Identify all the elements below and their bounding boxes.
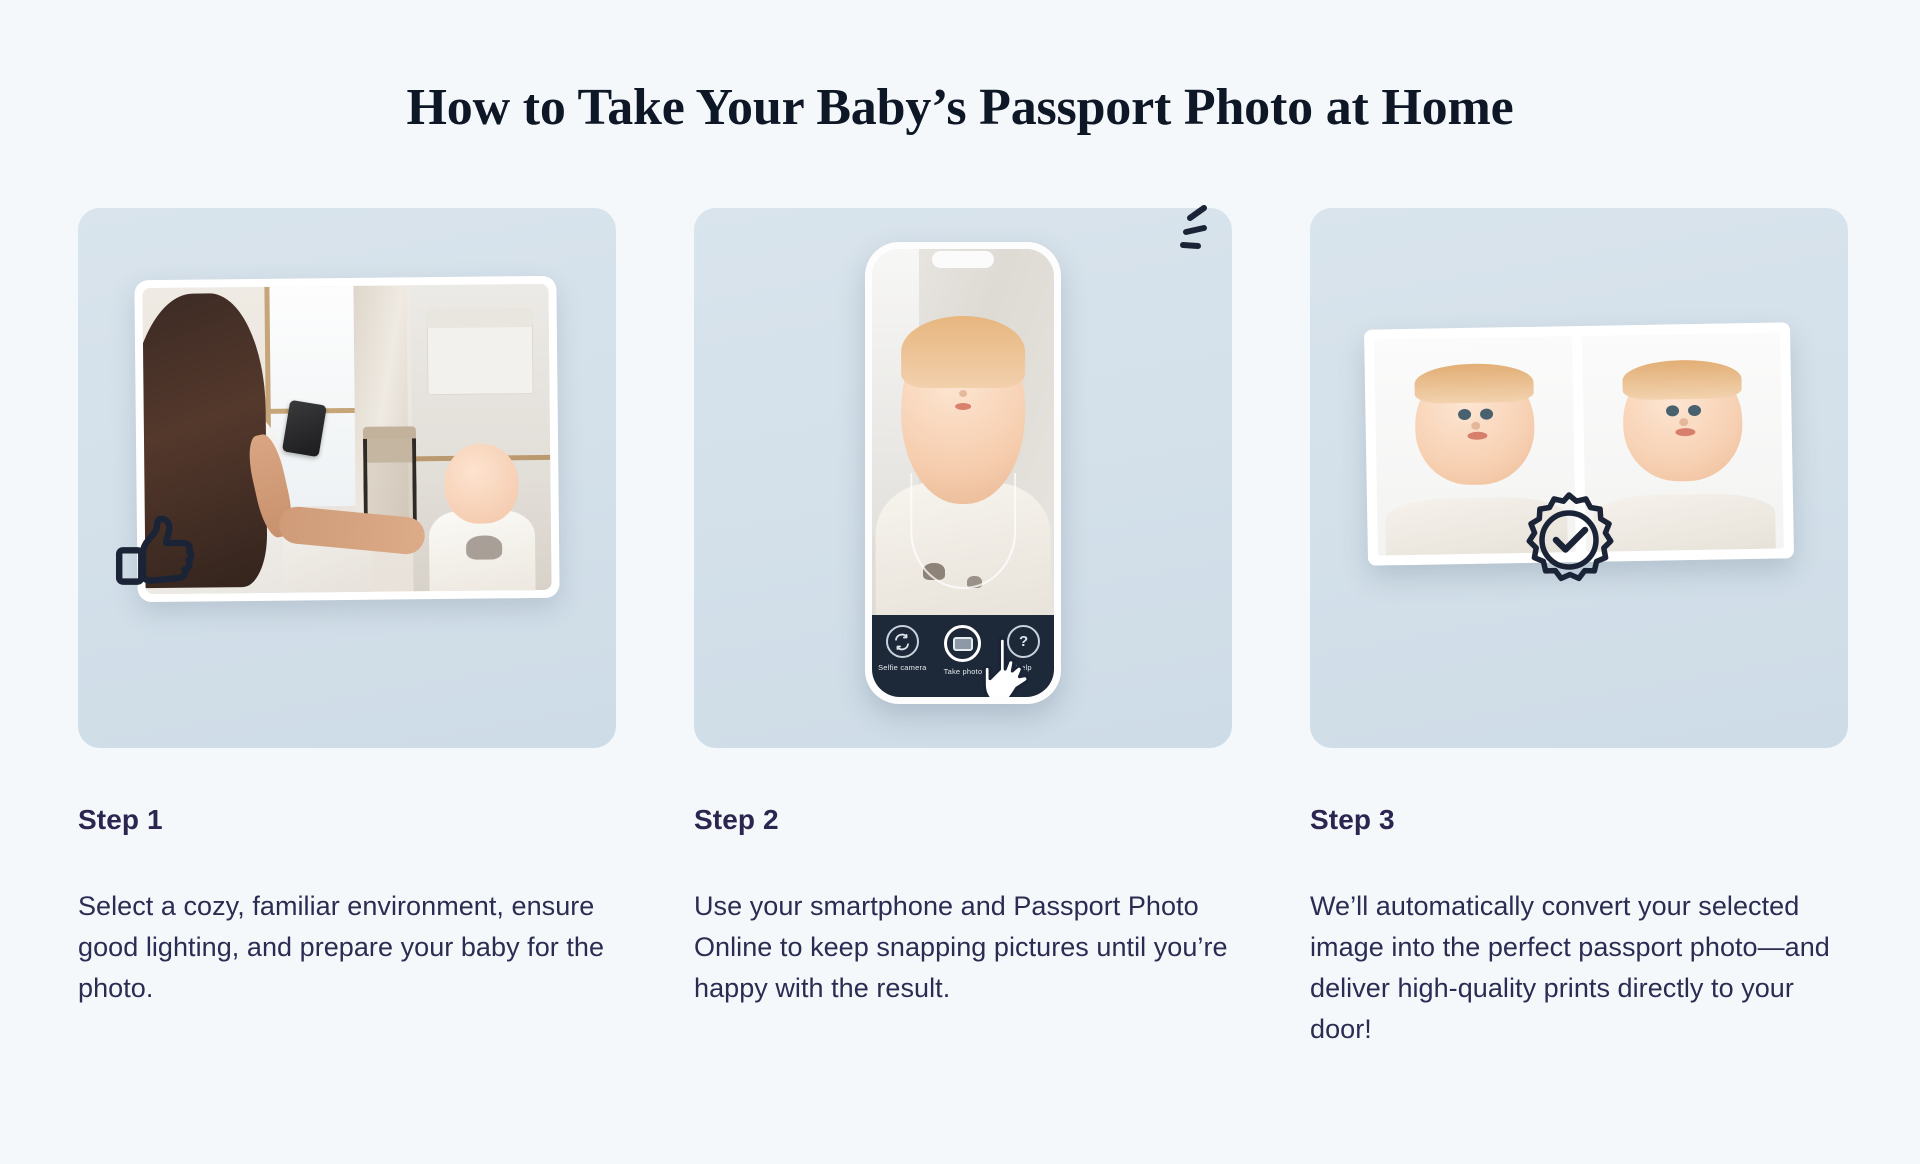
step-1-body: Select a cozy, familiar environment, ens… xyxy=(78,886,616,1009)
page-root: How to Take Your Baby’s Passport Photo a… xyxy=(0,0,1920,1164)
phone-screen: Selfie camera Take photo ? Help xyxy=(872,249,1054,697)
smartphone-mockup: Selfie camera Take photo ? Help xyxy=(865,242,1061,704)
step-column-1: Step 1 Select a cozy, familiar environme… xyxy=(78,208,616,1050)
baby-nose xyxy=(959,390,967,397)
shutter-icon[interactable] xyxy=(944,625,981,662)
baby-head xyxy=(445,443,519,523)
step-column-2: Selfie camera Take photo ? Help xyxy=(694,208,1232,1050)
phone-notch xyxy=(932,251,994,268)
thumbs-up-icon xyxy=(110,508,202,600)
print-right-hair xyxy=(1622,359,1741,400)
steps-container: Step 1 Select a cozy, familiar environme… xyxy=(78,208,1848,1050)
page-title: How to Take Your Baby’s Passport Photo a… xyxy=(0,78,1920,137)
step-3-illustration-card xyxy=(1310,208,1848,748)
shutter-inner xyxy=(953,637,973,651)
elephant-print xyxy=(466,535,503,560)
selfie-camera-control[interactable]: Selfie camera xyxy=(874,625,930,672)
print-right-nose xyxy=(1679,418,1688,426)
hand-pointer-icon xyxy=(980,635,1038,697)
baby-mouth xyxy=(956,403,972,410)
print-right-mouth xyxy=(1676,428,1696,436)
print-left-nose xyxy=(1471,422,1480,430)
step-column-3: Step 3 We’ll automatically convert your … xyxy=(1310,208,1848,1050)
verified-check-badge-icon xyxy=(1517,488,1621,592)
selfie-camera-label: Selfie camera xyxy=(874,663,930,672)
step-3-body: We’ll automatically convert your selecte… xyxy=(1310,886,1848,1050)
step-1-illustration-card xyxy=(78,208,616,748)
sparkle-lines-icon xyxy=(1174,202,1238,266)
selfie-camera-icon[interactable] xyxy=(886,625,919,658)
print-right-eye-right xyxy=(1688,405,1701,416)
step-2-label: Step 2 xyxy=(694,804,1232,836)
step-2-illustration-card: Selfie camera Take photo ? Help xyxy=(694,208,1232,748)
step-1-label: Step 1 xyxy=(78,804,616,836)
print-left-hair xyxy=(1414,363,1533,404)
print-left-eye-right xyxy=(1480,408,1493,419)
step-3-label: Step 3 xyxy=(1310,804,1848,836)
viewfinder-baby-hair xyxy=(901,316,1025,388)
step-2-body: Use your smartphone and Passport Photo O… xyxy=(694,886,1232,1009)
print-right-eye-left xyxy=(1666,405,1679,416)
print-left-mouth xyxy=(1468,431,1488,439)
kitchen-cabinet-top xyxy=(427,309,533,328)
home-photo-image xyxy=(142,284,551,594)
print-left-eye-left xyxy=(1458,409,1471,420)
